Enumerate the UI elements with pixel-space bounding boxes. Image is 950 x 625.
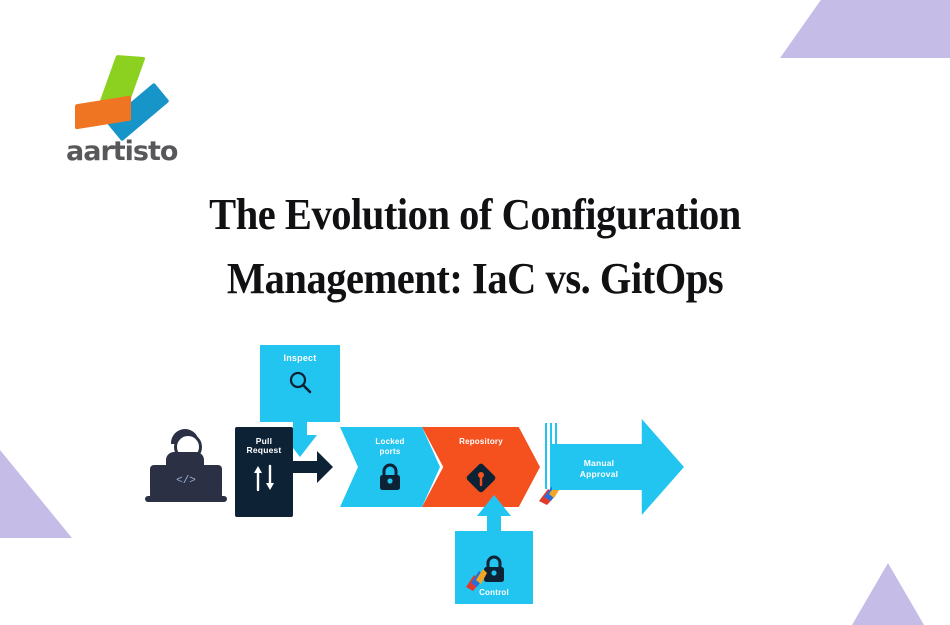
decoration-left-triangle <box>0 450 72 538</box>
gitops-pipeline-diagram: </> Inspect Pull Request <box>150 335 830 600</box>
developer-node: </> <box>150 431 222 505</box>
laptop-icon: </> <box>150 465 222 497</box>
hand-brush-icon-secondary <box>464 563 488 591</box>
pull-request-node: Pull Request <box>235 427 293 517</box>
aartisto-mark-icon <box>72 56 164 138</box>
title-line-2: Management: IaC vs. GitOps <box>38 247 912 311</box>
git-repository-diamond-icon <box>466 463 496 493</box>
manual-approval-arrow: Manual Approval <box>552 419 684 515</box>
laptop-code-glyph: </> <box>176 475 196 487</box>
manual-approval-label-line2: Approval <box>560 470 638 479</box>
pull-request-label-line2: Request <box>247 446 282 455</box>
brand-logo: aartisto <box>66 56 194 167</box>
brand-wordmark: aartisto <box>66 136 194 167</box>
inspect-label: Inspect <box>284 354 317 363</box>
repository-label: Repository <box>422 437 540 446</box>
decoration-bottom-right-triangle <box>852 563 924 625</box>
decoration-top-right-quad <box>780 0 950 58</box>
poster-canvas: aartisto The Evolution of Configuration … <box>0 0 950 625</box>
title-line-1: The Evolution of Configuration <box>38 183 912 247</box>
git-branch-icon <box>251 463 277 493</box>
locked-ports-label-line2: ports <box>340 447 440 456</box>
padlock-icon <box>377 463 403 491</box>
locked-ports-chevron: Locked ports <box>340 427 440 507</box>
magnifying-glass-icon <box>287 369 313 395</box>
locked-ports-label-line1: Locked <box>340 437 440 446</box>
manual-approval-label-line1: Manual <box>560 459 638 468</box>
inspect-node: Inspect <box>260 345 340 422</box>
laptop-base-icon <box>145 496 227 502</box>
flow-arrow-icon <box>293 451 333 483</box>
page-title: The Evolution of Configuration Managemen… <box>0 183 950 311</box>
